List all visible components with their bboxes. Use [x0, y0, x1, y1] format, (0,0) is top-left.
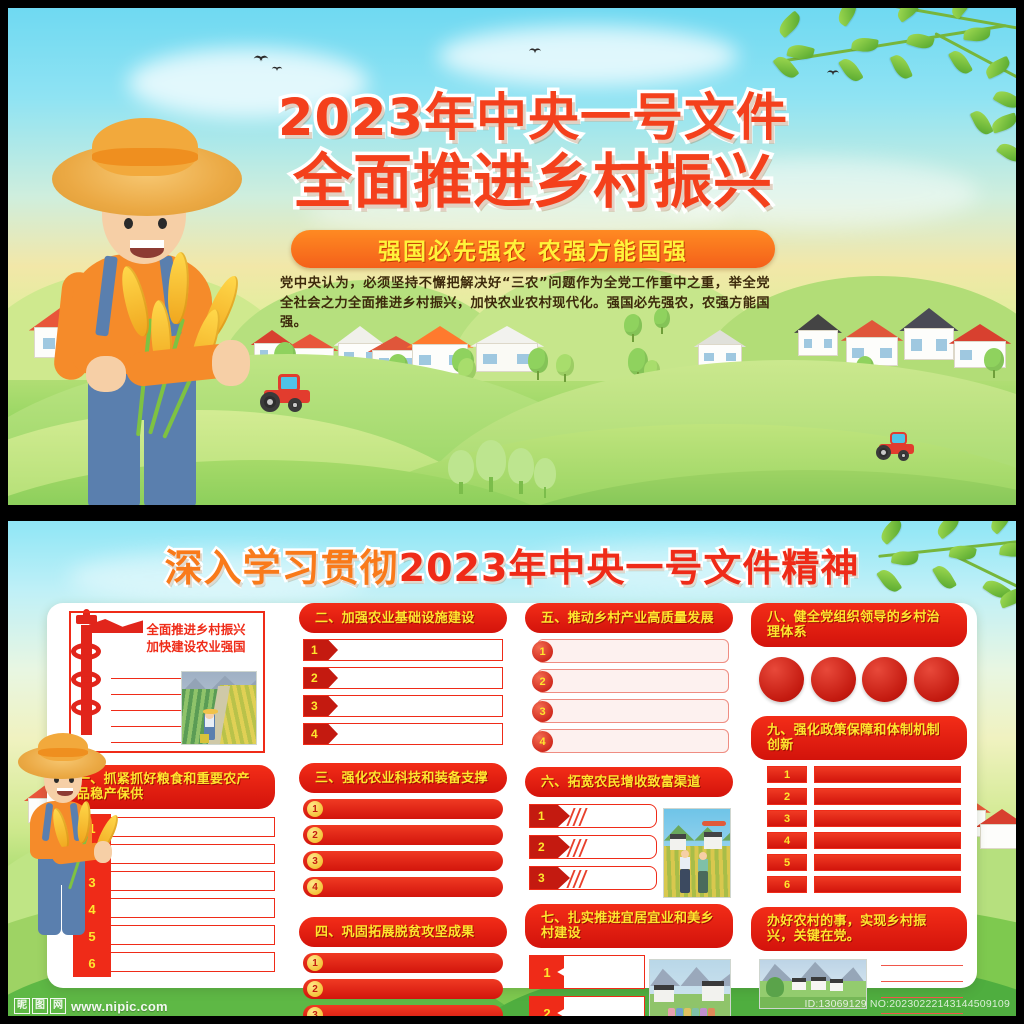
item-number: 3	[304, 696, 338, 716]
list-item[interactable]: 6	[73, 952, 275, 972]
section-title: 深入学习贯彻2023年中央一号文件精神	[8, 537, 1016, 592]
item-number: 5	[767, 854, 807, 871]
item-number: 2	[304, 668, 338, 688]
section-heading-text: 七、扎实推进宜居宜业和美乡村建设	[541, 911, 717, 941]
item-number: 6	[767, 876, 807, 893]
item-number: 3	[307, 853, 323, 869]
list-item[interactable]: 2	[537, 669, 729, 693]
section-heading: 八、健全党组织领导的乡村治理体系	[751, 603, 967, 647]
section-heading-text: 八、健全党组织领导的乡村治理体系	[767, 610, 951, 640]
list-item[interactable]: 1	[529, 804, 657, 828]
site-url: www.nipic.com	[71, 999, 168, 1014]
item-number: 3	[767, 810, 807, 827]
section-s7: 七、扎实推进宜居宜业和美乡村建设 1 2	[525, 904, 733, 1016]
list-item[interactable]: 1	[303, 639, 503, 661]
section-heading-text: 四、巩固拓展脱贫攻坚成果	[315, 925, 475, 940]
section-s8: 八、健全党组织领导的乡村治理体系	[751, 603, 967, 702]
section-heading-text: 二、加强农业基础设施建设	[315, 611, 475, 626]
section-title-red: 2023年中央一号文件精神	[399, 546, 860, 590]
list-item[interactable]: 2	[303, 667, 503, 689]
site-watermark: 昵 图 网 www.nipic.com	[14, 998, 168, 1014]
list-item[interactable]: 4	[767, 832, 961, 849]
logo-char: 昵	[14, 998, 30, 1014]
item-number: 6	[73, 949, 111, 977]
list-item[interactable]: 3	[529, 866, 657, 890]
list-item[interactable]: 5	[767, 854, 961, 871]
item-number: 1	[307, 955, 323, 971]
item-number: 1	[767, 766, 807, 783]
bird-icon	[253, 56, 268, 64]
section-s3: 三、强化农业科技和装备支撑 1 2 3 4	[299, 763, 507, 897]
section-heading-text: 五、推动乡村产业高质量发展	[541, 611, 714, 626]
item-number: 4	[767, 832, 807, 849]
section-heading: 七、扎实推进宜居宜业和美乡村建设	[525, 904, 733, 948]
tree-icon	[528, 348, 548, 380]
list-item[interactable]: 1	[303, 799, 503, 819]
circle-badge[interactable]	[862, 657, 907, 702]
list-item[interactable]: 4	[303, 723, 503, 745]
section-title-orange: 深入学习贯彻	[165, 546, 399, 590]
list-item[interactable]: 2	[303, 979, 503, 999]
chevron-icon	[570, 839, 586, 857]
nipic-logo-icon: 昵 图 网	[14, 998, 66, 1014]
section-heading: 五、推动乡村产业高质量发展	[525, 603, 733, 633]
poster-root: 2023年中央一号文件 全面推进乡村振兴 强国必先强农 农强方能国强 党中央认为…	[0, 0, 1024, 1024]
section-heading: 六、拓宽农民增收致富渠道	[525, 767, 733, 797]
item-number: 2	[530, 836, 570, 858]
tree-icon	[556, 354, 574, 382]
mini-illustration	[181, 671, 257, 745]
list-item[interactable]: 3	[767, 810, 961, 827]
content-board: 全面推进乡村振兴 加快建设农业强国	[47, 603, 977, 988]
title-line-2: 全面推进乡村振兴	[253, 150, 813, 214]
list-item[interactable]: 2	[767, 788, 961, 805]
list-item[interactable]: 4	[537, 729, 729, 753]
highlight-card-title-l1: 全面推进乡村振兴	[137, 621, 255, 638]
item-number: 1	[307, 801, 323, 817]
mini-illustration	[663, 808, 731, 898]
intro-paragraph: 党中央认为，必须坚持不懈把解决好“三农”问题作为全党工作重中之重，举全党全社会之…	[280, 274, 770, 333]
list-item[interactable]: 4	[303, 877, 503, 897]
item-number: 1	[304, 640, 338, 660]
item-number: 2	[532, 671, 553, 692]
list-item[interactable]: 3	[303, 1005, 503, 1016]
top-banner-panel: 2023年中央一号文件 全面推进乡村振兴 强国必先强农 农强方能国强 党中央认为…	[8, 8, 1016, 505]
item-number: 2	[307, 827, 323, 843]
bird-icon	[271, 67, 282, 73]
item-number: 2	[307, 981, 323, 997]
list-item[interactable]: 1	[529, 955, 645, 989]
title-line-1: 2023年中央一号文件	[253, 90, 813, 148]
circle-group	[751, 657, 967, 702]
section-s4: 四、巩固拓展脱贫攻坚成果 1 2 3	[299, 917, 507, 1016]
tractor-icon	[876, 432, 920, 462]
logo-char: 网	[50, 998, 66, 1014]
highlight-card-title-l2: 加快建设农业强国	[137, 638, 255, 655]
list-item[interactable]: 1	[303, 953, 503, 973]
item-number: 2	[530, 997, 564, 1016]
highlight-card-title: 全面推进乡村振兴 加快建设农业强国	[137, 621, 255, 655]
item-number: 3	[307, 1007, 323, 1016]
image-id-text: ID:13069129 NO:20230222143144509109	[804, 998, 1010, 1010]
item-number: 1	[532, 641, 553, 662]
tree-icon	[534, 458, 556, 498]
list-item[interactable]: 1	[537, 639, 729, 663]
item-number: 1	[530, 805, 570, 827]
section-heading: 四、巩固拓展脱贫攻坚成果	[299, 917, 507, 947]
item-number: 1	[530, 956, 564, 988]
cloud-decoration	[438, 26, 738, 86]
list-item[interactable]: 3	[303, 851, 503, 871]
item-number: 4	[307, 879, 323, 895]
list-item[interactable]: 3	[537, 699, 729, 723]
bird-icon	[529, 48, 542, 54]
slogan-text: 强国必先强农 农强方能国强	[378, 232, 688, 266]
section-s2: 二、加强农业基础设施建设 1 2 3 4	[299, 603, 507, 745]
farmer-illustration-small	[12, 733, 108, 933]
section-heading-text: 九、强化政策保障和体制机制创新	[767, 723, 951, 753]
house-icon	[798, 314, 838, 356]
item-number: 3	[532, 701, 553, 722]
content-panel: 深入学习贯彻2023年中央一号文件精神	[8, 521, 1016, 1016]
item-number: 2	[767, 788, 807, 805]
section-heading: 办好农村的事，实现乡村振兴，关键在党。	[751, 907, 967, 951]
section-heading: 九、强化政策保障和体制机制创新	[751, 716, 967, 760]
item-number: 4	[304, 724, 338, 744]
tree-icon	[508, 448, 534, 494]
list-item[interactable]: 1	[767, 766, 961, 783]
tree-icon	[984, 348, 1004, 378]
section-heading-text: 六、拓宽农民增收致富渠道	[541, 775, 701, 790]
logo-char: 图	[32, 998, 48, 1014]
poster-title: 2023年中央一号文件 全面推进乡村振兴	[253, 90, 813, 214]
house-icon	[904, 308, 954, 360]
list-item[interactable]: 6	[767, 876, 961, 893]
section-s5: 五、推动乡村产业高质量发展 1 2 3 4	[525, 603, 733, 753]
list-item[interactable]: 3	[303, 695, 503, 717]
column-3: 五、推动乡村产业高质量发展 1 2 3 4 六、拓宽农民增收致富渠道 1 2	[525, 603, 733, 1016]
tree-icon	[448, 450, 474, 494]
chevron-icon	[570, 808, 586, 826]
section-s6: 六、拓宽农民增收致富渠道 1 2 3	[525, 767, 733, 890]
column-2: 二、加强农业基础设施建设 1 2 3 4 三、强化农业科技和装备支撑 1 2 3…	[299, 603, 507, 1016]
mini-illustration	[649, 959, 731, 1016]
farmer-illustration	[30, 104, 270, 504]
chevron-icon	[570, 870, 586, 888]
slogan-banner: 强国必先强农 农强方能国强	[291, 230, 775, 268]
section-heading-text: 办好农村的事，实现乡村振兴，关键在党。	[767, 914, 951, 944]
tree-icon	[476, 440, 506, 492]
section-heading: 二、加强农业基础设施建设	[299, 603, 507, 633]
item-number: 4	[532, 731, 553, 752]
column-4: 八、健全党组织领导的乡村治理体系 九、强化政策保障和体制机制创新 1 2 3	[751, 603, 967, 1016]
house-icon	[980, 809, 1016, 849]
list-item[interactable]: 2	[303, 825, 503, 845]
section-heading: 三、强化农业科技和装备支撑	[299, 763, 507, 793]
highlight-card: 全面推进乡村振兴 加快建设农业强国	[69, 611, 265, 753]
circle-badge[interactable]	[914, 657, 959, 702]
list-item[interactable]: 2	[529, 835, 657, 859]
section-heading-text: 三、强化农业科技和装备支撑	[315, 771, 488, 786]
circle-badge[interactable]	[759, 657, 804, 702]
section-s9: 九、强化政策保障和体制机制创新 1 2 3 4 5 6	[751, 716, 967, 893]
circle-badge[interactable]	[811, 657, 856, 702]
list-item[interactable]: 2	[529, 996, 645, 1016]
item-number: 3	[530, 867, 570, 889]
